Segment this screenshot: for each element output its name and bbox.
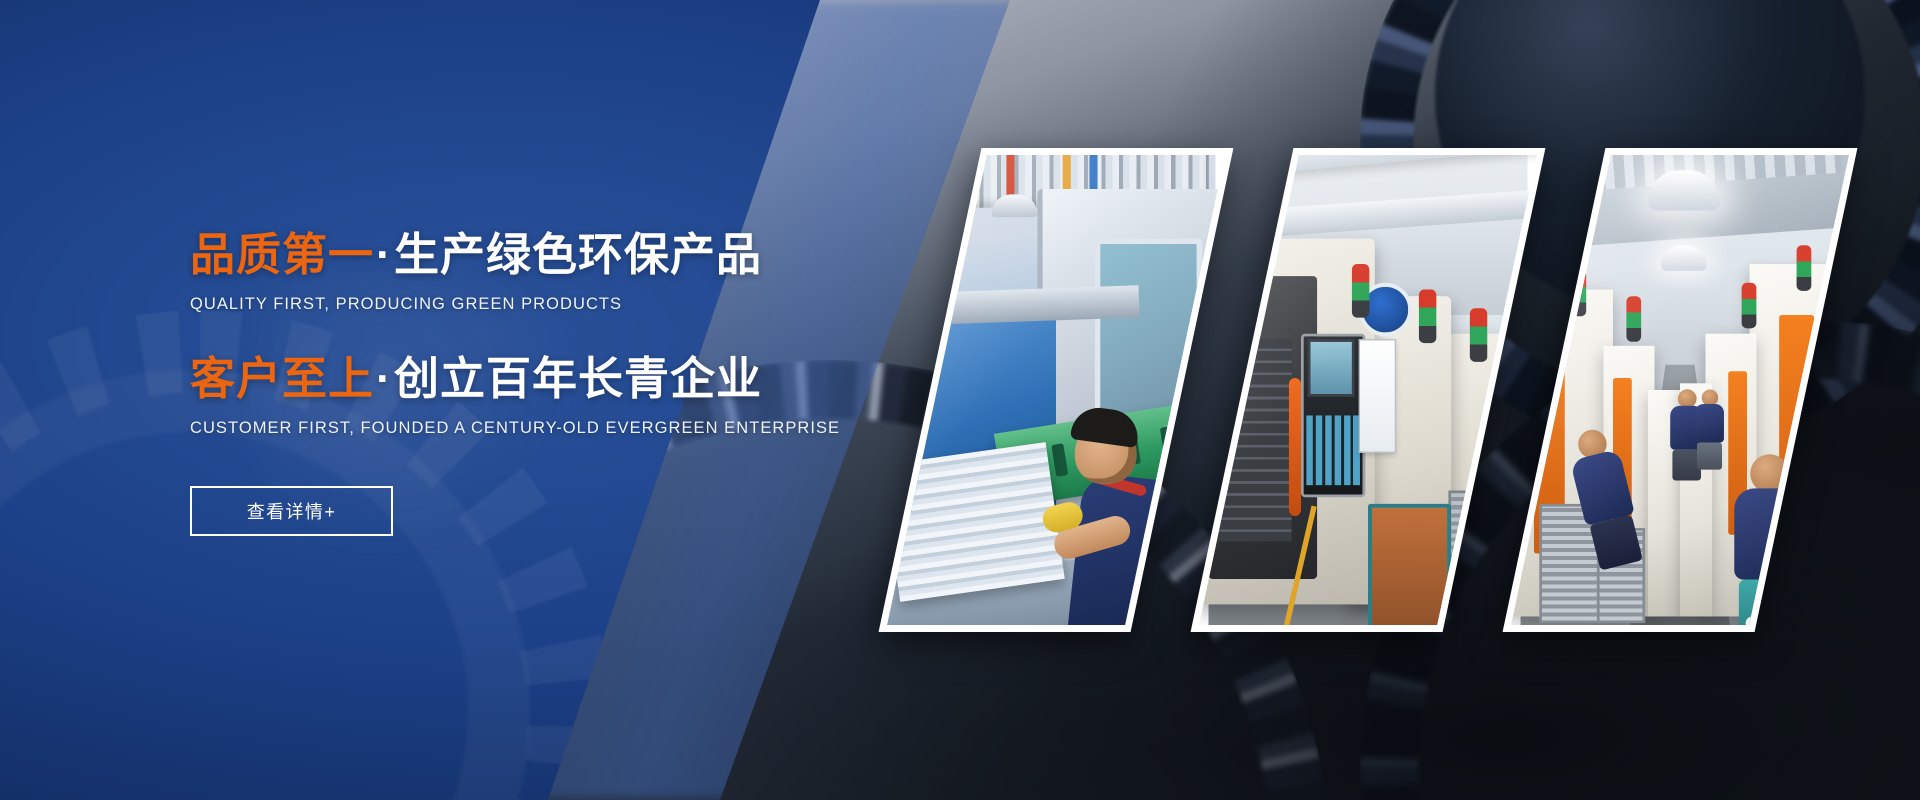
- headline-primary-accent: 品质第一: [190, 229, 374, 280]
- banner-content: 品质第一·生产绿色环保产品 QUALITY FIRST, PRODUCING G…: [190, 228, 830, 536]
- headline-secondary-separator: ·: [374, 353, 394, 404]
- headline-secondary: 客户至上·创立百年长青企业: [190, 352, 830, 405]
- subtitle-secondary: CUSTOMER FIRST, FOUNDED A CENTURY-OLD EV…: [190, 419, 830, 438]
- headline-primary-rest: 生产绿色环保产品: [394, 229, 762, 280]
- view-details-button[interactable]: 查看详情+: [190, 486, 393, 536]
- subtitle-primary: QUALITY FIRST, PRODUCING GREEN PRODUCTS: [190, 295, 830, 314]
- headline-primary-separator: ·: [374, 229, 394, 280]
- hero-banner: 品质第一·生产绿色环保产品 QUALITY FIRST, PRODUCING G…: [0, 0, 1920, 800]
- headline-secondary-rest: 创立百年长青企业: [394, 353, 762, 404]
- headline-secondary-accent: 客户至上: [190, 353, 374, 404]
- headline-primary: 品质第一·生产绿色环保产品: [190, 228, 830, 281]
